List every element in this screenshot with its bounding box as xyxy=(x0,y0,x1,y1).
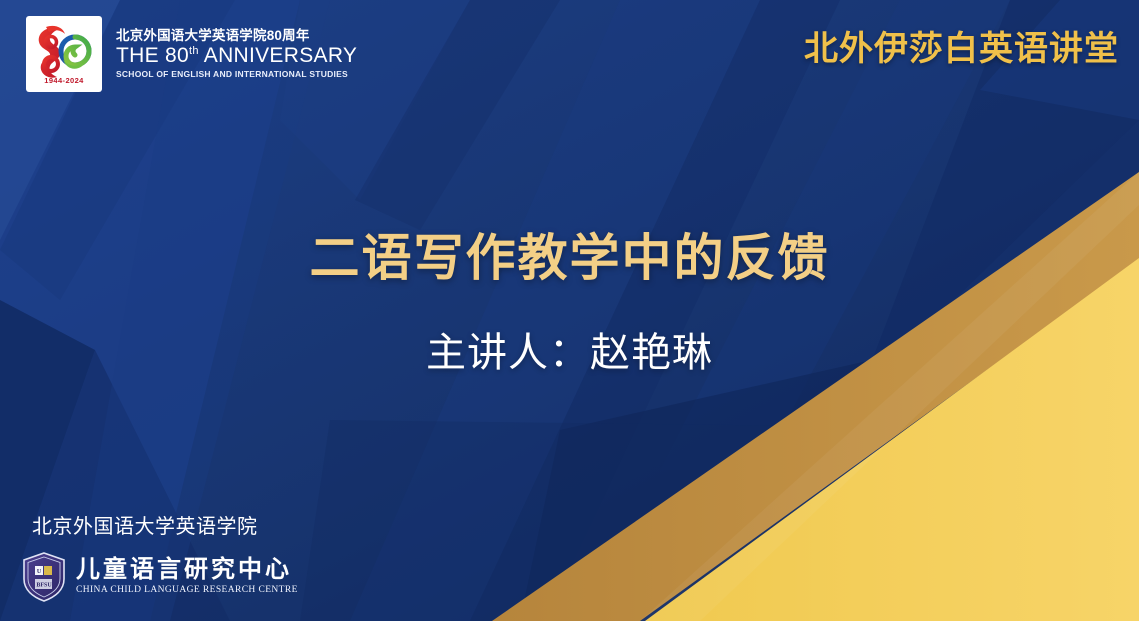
svg-text:1944-2024: 1944-2024 xyxy=(44,76,84,85)
anniversary-text-block: 北京外国语大学英语学院80周年 THE 80th ANNIVERSARY SCH… xyxy=(116,29,357,78)
anniversary-en-line: THE 80th ANNIVERSARY xyxy=(116,45,357,68)
research-centre-cn-name: 儿童语言研究中心 xyxy=(76,558,298,583)
research-centre-en-name: CHINA CHILD LANGUAGE RESEARCH CENTRE xyxy=(76,586,298,596)
anniversary-branding: 1944-2024 北京外国语大学英语学院80周年 THE 80th ANNIV… xyxy=(26,16,357,92)
lecture-series-title: 北外伊莎白英语讲堂 xyxy=(804,21,1119,70)
svg-text:U: U xyxy=(37,569,42,575)
speaker-line: 主讲人：赵艳琳 xyxy=(0,320,1139,378)
presentation-title-slide: 1944-2024 北京外国语大学英语学院80周年 THE 80th ANNIV… xyxy=(0,0,1139,621)
anniversary-en-ordinal: th xyxy=(189,45,199,57)
anniversary-en-prefix: THE 80 xyxy=(116,44,189,67)
anniversary-school-line: SCHOOL OF ENGLISH AND INTERNATIONAL STUD… xyxy=(116,70,357,79)
footer-school-name: 北京外国语大学英语学院 xyxy=(32,510,258,539)
title-block: 二语写作教学中的反馈 主讲人：赵艳琳 xyxy=(0,218,1139,378)
svg-text:BFSU: BFSU xyxy=(36,583,52,589)
research-centre-branding: BFSU U 儿童语言研究中心 CHINA CHILD LANGUAGE RES… xyxy=(22,552,298,602)
anniversary-80-logo-icon: 1944-2024 xyxy=(29,19,99,89)
bfsu-shield-crest-icon: BFSU U xyxy=(22,552,66,602)
anniversary-cn-line: 北京外国语大学英语学院80周年 xyxy=(116,29,357,44)
anniversary-80-logo: 1944-2024 xyxy=(26,16,102,92)
page-title: 二语写作教学中的反馈 xyxy=(0,218,1139,290)
research-centre-text: 儿童语言研究中心 CHINA CHILD LANGUAGE RESEARCH C… xyxy=(76,558,298,596)
anniversary-en-suffix: ANNIVERSARY xyxy=(199,44,357,67)
